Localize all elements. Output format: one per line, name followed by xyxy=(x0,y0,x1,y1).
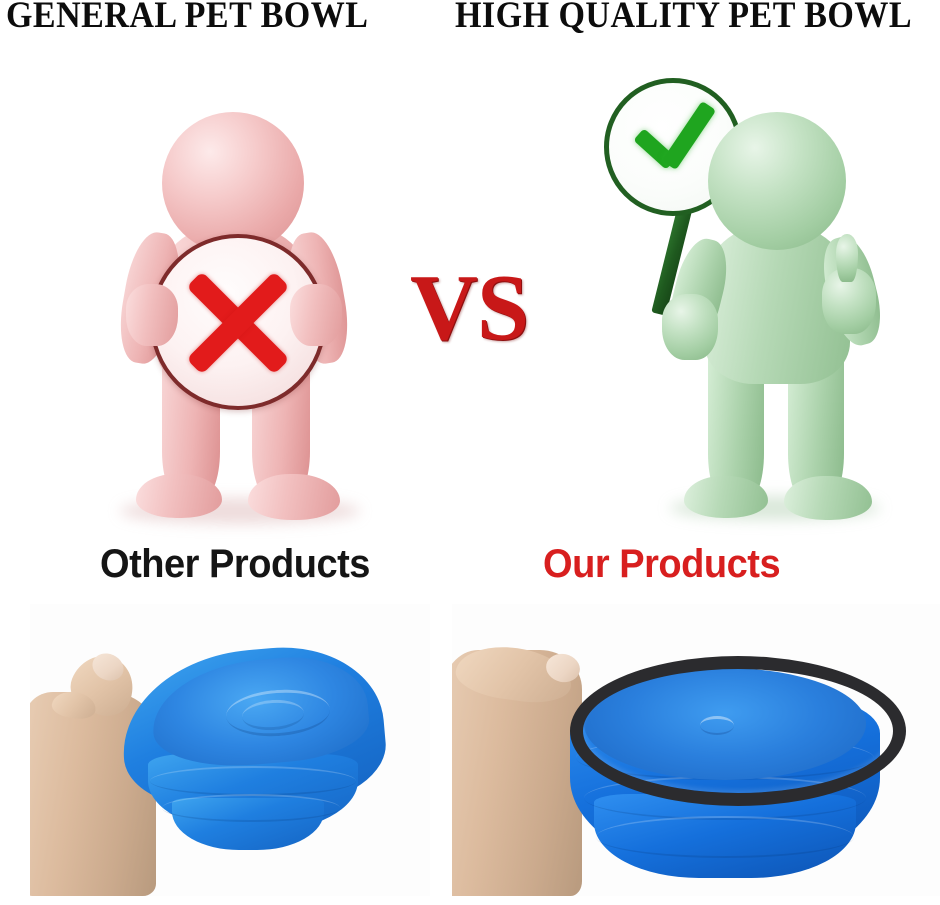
pink-foot-right xyxy=(248,474,340,520)
header-title-right: HIGH QUALITY PET BOWL xyxy=(455,0,912,37)
comparison-stage: VS xyxy=(0,46,940,536)
bowl-ridge-2-floppy xyxy=(162,794,340,822)
thumbs-up-thumb xyxy=(836,234,858,282)
green-foot-right xyxy=(784,476,872,520)
label-our-products: Our Products xyxy=(543,542,780,587)
green-mannequin-figure xyxy=(600,56,930,526)
header-row: GENERAL PET BOWL HIGH QUALITY PET BOWL xyxy=(0,0,940,46)
pink-hand-left xyxy=(126,284,178,346)
bowl-ridge-3-rigid xyxy=(596,816,854,858)
check-mark-stroke-long xyxy=(662,101,716,170)
green-hand-gripping xyxy=(662,294,718,360)
product-photo-row xyxy=(0,604,940,899)
vs-label: VS xyxy=(410,261,528,355)
bowl-center-dimple-rigid xyxy=(700,716,734,735)
green-head xyxy=(708,112,846,250)
header-title-left: GENERAL PET BOWL xyxy=(6,0,368,37)
pink-head xyxy=(162,112,304,254)
pink-hand-right xyxy=(290,284,342,346)
product-label-row: Other Products Our Products xyxy=(0,536,940,598)
green-foot-left xyxy=(684,476,768,518)
pink-mannequin-figure xyxy=(100,106,400,526)
pink-foot-left xyxy=(136,474,222,518)
bowl-rim-black xyxy=(570,656,906,806)
floppy-blue-bowl-photo xyxy=(30,604,430,896)
rigid-rim-blue-bowl-photo xyxy=(452,604,940,896)
bowl-ridge-1-floppy xyxy=(150,766,356,796)
label-other-products: Other Products xyxy=(100,542,370,587)
